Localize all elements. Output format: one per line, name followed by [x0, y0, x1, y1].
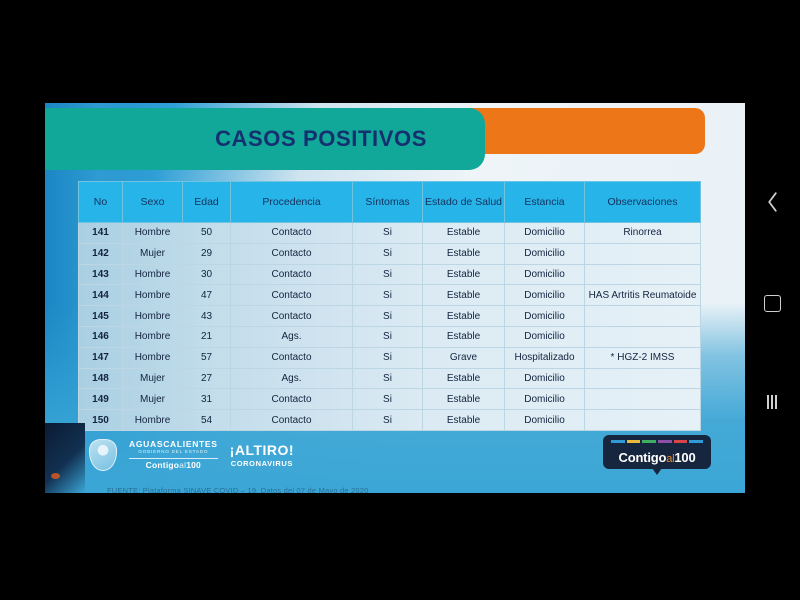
table-row: 146Hombre21Ags.SiEstableDomicilio — [79, 326, 701, 347]
home-icon[interactable] — [764, 295, 781, 312]
cell-estado: Estable — [423, 264, 505, 285]
cell-estancia: Hospitalizado — [505, 347, 585, 368]
cell-edad: 57 — [183, 347, 231, 368]
cell-edad: 31 — [183, 389, 231, 410]
cell-proc: Contacto — [231, 347, 353, 368]
cell-no: 150 — [79, 410, 123, 431]
cell-estancia: Domicilio — [505, 223, 585, 244]
cell-no: 149 — [79, 389, 123, 410]
cell-sexo: Hombre — [123, 264, 183, 285]
cell-no: 143 — [79, 264, 123, 285]
cell-obs — [585, 243, 701, 264]
cell-estancia: Domicilio — [505, 306, 585, 327]
table-row: 144Hombre47ContactoSiEstableDomicilioHAS… — [79, 285, 701, 306]
presentation-slide: CASOS POSITIVOS NoSexoEdadProcedenciaSín… — [45, 103, 745, 493]
source-note: FUENTE: Plataforma SINAVE COVID – 19. Da… — [107, 486, 369, 493]
table-row: 150Hombre54ContactoSiEstableDomicilio — [79, 410, 701, 431]
column-header-obs: Observaciones — [585, 182, 701, 223]
cell-obs — [585, 410, 701, 431]
column-header-estancia: Estancia — [505, 182, 585, 223]
ags-tagline-word: Contigo — [146, 460, 180, 470]
positive-cases-table: NoSexoEdadProcedenciaSíntomasEstado de S… — [78, 181, 701, 431]
cell-sint: Si — [353, 264, 423, 285]
ags-tagline-al: al — [179, 460, 186, 470]
column-header-proc: Procedencia — [231, 182, 353, 223]
cell-estancia: Domicilio — [505, 264, 585, 285]
cell-proc: Contacto — [231, 410, 353, 431]
cell-proc: Contacto — [231, 285, 353, 306]
ags-tagline: Contigoal100 — [146, 461, 201, 470]
cell-proc: Contacto — [231, 306, 353, 327]
table-body: 141Hombre50ContactoSiEstableDomicilioRin… — [79, 223, 701, 431]
page-title: CASOS POSITIVOS — [215, 126, 485, 152]
cell-edad: 21 — [183, 326, 231, 347]
cell-sint: Si — [353, 389, 423, 410]
cell-sint: Si — [353, 326, 423, 347]
cell-estado: Grave — [423, 347, 505, 368]
cell-no: 147 — [79, 347, 123, 368]
contigo-color-bar — [627, 440, 641, 443]
cell-obs: * HGZ-2 IMSS — [585, 347, 701, 368]
cell-proc: Ags. — [231, 368, 353, 389]
ags-divider — [129, 458, 218, 459]
cell-sint: Si — [353, 368, 423, 389]
cell-edad: 27 — [183, 368, 231, 389]
column-header-edad: Edad — [183, 182, 231, 223]
cell-edad: 47 — [183, 285, 231, 306]
ags-name: AGUASCALIENTES — [129, 440, 218, 449]
cell-estado: Estable — [423, 243, 505, 264]
contigo-color-bar — [658, 440, 672, 443]
ags-subtitle: GOBIERNO DEL ESTADO — [138, 450, 208, 455]
cell-estado: Estable — [423, 410, 505, 431]
contigo-color-bar — [674, 440, 688, 443]
contigo-color-bar — [689, 440, 703, 443]
cell-sexo: Hombre — [123, 347, 183, 368]
cell-sexo: Hombre — [123, 326, 183, 347]
cell-sexo: Hombre — [123, 223, 183, 244]
cell-edad: 29 — [183, 243, 231, 264]
title-banner: CASOS POSITIVOS — [45, 108, 485, 170]
cell-estancia: Domicilio — [505, 285, 585, 306]
cell-sexo: Mujer — [123, 243, 183, 264]
cell-estancia: Domicilio — [505, 368, 585, 389]
cell-proc: Contacto — [231, 243, 353, 264]
table-row: 143Hombre30ContactoSiEstableDomicilio — [79, 264, 701, 285]
cell-proc: Ags. — [231, 326, 353, 347]
cell-sint: Si — [353, 410, 423, 431]
altiro-word: ¡ALTIRO! — [230, 443, 294, 457]
aguascalientes-crest-icon — [89, 439, 117, 471]
cell-sint: Si — [353, 306, 423, 327]
recent-apps-icon[interactable] — [767, 395, 777, 409]
aguascalientes-wordmark: AGUASCALIENTES GOBIERNO DEL ESTADO Conti… — [129, 440, 218, 470]
cell-obs — [585, 389, 701, 410]
contigo-color-bars — [611, 440, 703, 443]
cell-edad: 43 — [183, 306, 231, 327]
cell-sexo: Hombre — [123, 285, 183, 306]
back-icon[interactable] — [765, 191, 780, 213]
cell-estado: Estable — [423, 389, 505, 410]
cell-edad: 54 — [183, 410, 231, 431]
cell-obs — [585, 306, 701, 327]
slide-corner-shadow — [45, 423, 85, 493]
cell-no: 142 — [79, 243, 123, 264]
cell-sexo: Mujer — [123, 368, 183, 389]
table-row: 142Mujer29ContactoSiEstableDomicilio — [79, 243, 701, 264]
altiro-subtitle: CORONAVIRUS — [231, 460, 293, 468]
contigo-al-100-badge: Contigoal100 — [603, 435, 711, 469]
footer-logos: AGUASCALIENTES GOBIERNO DEL ESTADO Conti… — [89, 439, 294, 471]
cell-no: 141 — [79, 223, 123, 244]
cell-obs: HAS Artritis Reumatoide — [585, 285, 701, 306]
contigo-word: Contigo — [619, 450, 667, 465]
table-row: 148Mujer27Ags.SiEstableDomicilio — [79, 368, 701, 389]
contigo-num: 100 — [674, 450, 695, 465]
cell-estancia: Domicilio — [505, 243, 585, 264]
cell-proc: Contacto — [231, 389, 353, 410]
cell-proc: Contacto — [231, 264, 353, 285]
column-header-sint: Síntomas — [353, 182, 423, 223]
table-row: 141Hombre50ContactoSiEstableDomicilioRin… — [79, 223, 701, 244]
cell-estado: Estable — [423, 326, 505, 347]
cell-estado: Estable — [423, 223, 505, 244]
table-header-row: NoSexoEdadProcedenciaSíntomasEstado de S… — [79, 182, 701, 223]
cell-estado: Estable — [423, 306, 505, 327]
android-navigation-bar — [744, 0, 800, 600]
contigo-color-bar — [611, 440, 625, 443]
cell-sexo: Mujer — [123, 389, 183, 410]
cell-sint: Si — [353, 285, 423, 306]
cell-estancia: Domicilio — [505, 389, 585, 410]
cell-edad: 50 — [183, 223, 231, 244]
table-row: 145Hombre43ContactoSiEstableDomicilio — [79, 306, 701, 327]
cell-obs: Rinorrea — [585, 223, 701, 244]
column-header-estado: Estado de Salud — [423, 182, 505, 223]
cell-sexo: Hombre — [123, 410, 183, 431]
cell-estancia: Domicilio — [505, 326, 585, 347]
cell-estado: Estable — [423, 368, 505, 389]
slide-corner-indicator-dot — [51, 473, 60, 479]
cell-edad: 30 — [183, 264, 231, 285]
cell-sint: Si — [353, 223, 423, 244]
cell-no: 145 — [79, 306, 123, 327]
column-header-sexo: Sexo — [123, 182, 183, 223]
cell-obs — [585, 326, 701, 347]
cell-sint: Si — [353, 243, 423, 264]
ags-tagline-num: 100 — [186, 460, 201, 470]
column-header-no: No — [79, 182, 123, 223]
cell-proc: Contacto — [231, 223, 353, 244]
contigo-color-bar — [642, 440, 656, 443]
cell-sint: Si — [353, 347, 423, 368]
cell-no: 144 — [79, 285, 123, 306]
cell-estado: Estable — [423, 285, 505, 306]
cell-sexo: Hombre — [123, 306, 183, 327]
cell-estancia: Domicilio — [505, 410, 585, 431]
table-row: 149Mujer31ContactoSiEstableDomicilio — [79, 389, 701, 410]
table-row: 147Hombre57ContactoSiGraveHospitalizado*… — [79, 347, 701, 368]
contigo-badge-text: Contigoal100 — [619, 450, 696, 465]
altiro-logo: ¡ALTIRO! CORONAVIRUS — [230, 443, 294, 468]
phone-screen: CASOS POSITIVOS NoSexoEdadProcedenciaSín… — [0, 0, 800, 600]
cell-obs — [585, 368, 701, 389]
cell-obs — [585, 264, 701, 285]
cell-no: 148 — [79, 368, 123, 389]
cell-no: 146 — [79, 326, 123, 347]
